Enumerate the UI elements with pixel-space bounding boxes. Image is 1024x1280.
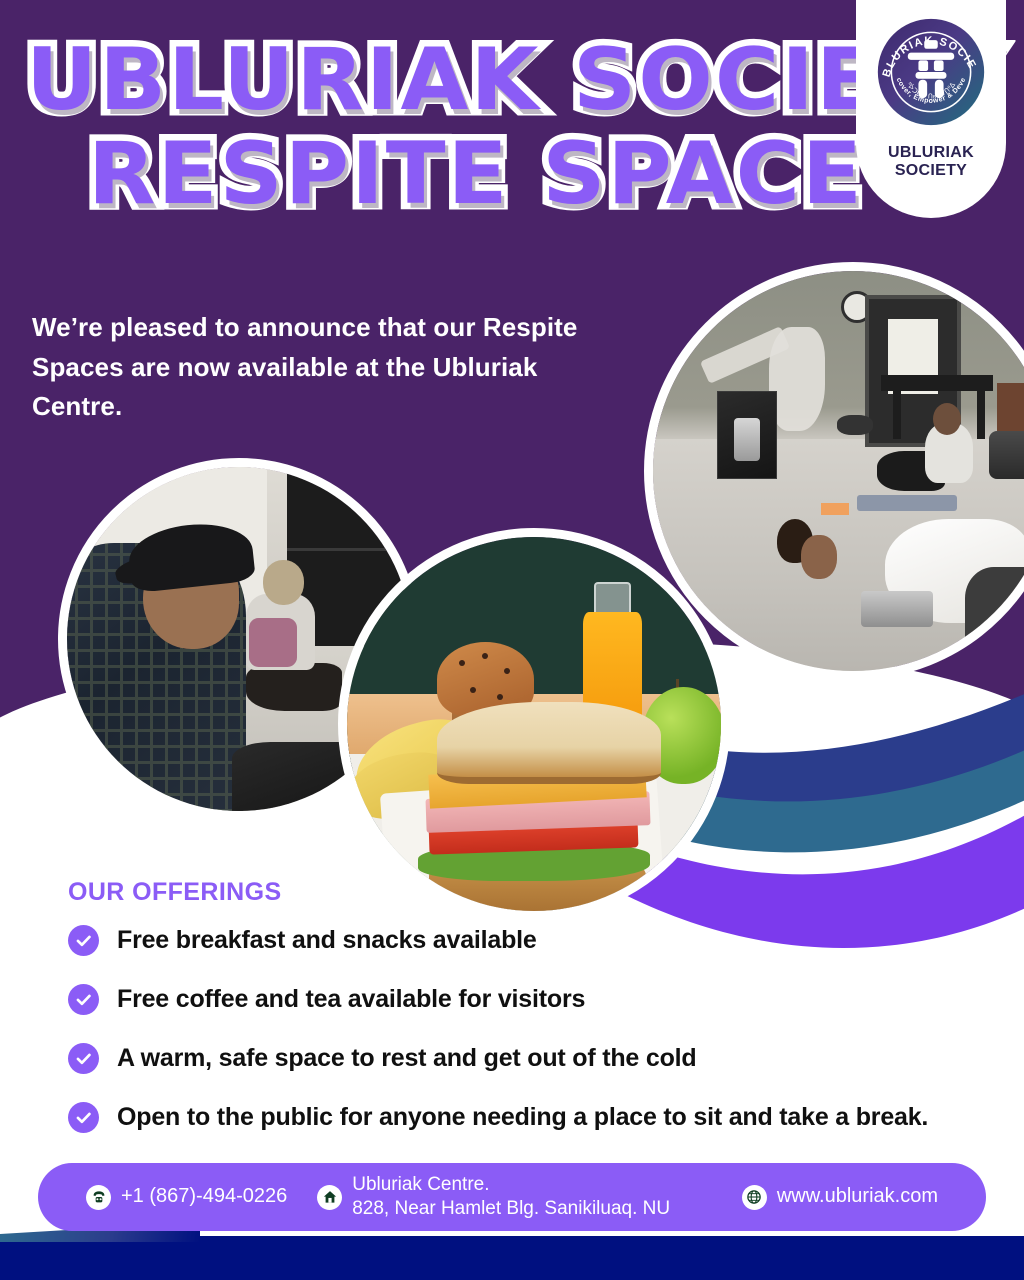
address-text: Ubluriak Centre. 828, Near Hamlet Blg. S…	[352, 1173, 670, 1222]
contact-bar: +1 (867)-494-0226 Ubluriak Centre. 828, …	[38, 1163, 986, 1231]
logo-wordmark-line-1: UBLURIAK	[888, 144, 974, 161]
offering-label: A warm, safe space to rest and get out o…	[117, 1044, 696, 1073]
address-line-2: 828, Near Hamlet Blg. Sanikiluaq. NU	[352, 1198, 670, 1219]
inukshuk-icon: UBLURIAK SOCIETY ᐦᐆᑐᑎᐯ ᑎᏼᐆᐯᑎᐦᐃ Discover,…	[873, 14, 989, 130]
address-line-1: Ubluriak Centre.	[352, 1174, 489, 1195]
offering-label: Open to the public for anyone needing a …	[117, 1103, 928, 1132]
footer-navy-strip	[0, 1236, 1024, 1280]
globe-icon	[742, 1185, 767, 1210]
list-item: Free breakfast and snacks available	[68, 925, 1008, 956]
logo-wordmark: UBLURIAK SOCIETY	[888, 144, 974, 181]
list-item: Free coffee and tea available for visito…	[68, 984, 1008, 1015]
telephone-icon	[86, 1185, 111, 1210]
photo-breakfast	[338, 528, 730, 920]
offering-label: Free breakfast and snacks available	[117, 926, 537, 955]
contact-address[interactable]: Ubluriak Centre. 828, Near Hamlet Blg. S…	[317, 1173, 670, 1222]
home-icon	[317, 1185, 342, 1210]
offering-label: Free coffee and tea available for visito…	[117, 985, 585, 1014]
poster-root: UBLURIAK SOCIETY RESPITE SPACE We’re ple…	[0, 0, 1024, 1280]
contact-website[interactable]: www.ubluriak.com	[742, 1184, 938, 1210]
list-item: A warm, safe space to rest and get out o…	[68, 1043, 1008, 1074]
website-url: www.ubluriak.com	[777, 1184, 938, 1210]
poster-headline: UBLURIAK SOCIETY RESPITE SPACE	[26, 38, 986, 217]
phone-number: +1 (867)-494-0226	[121, 1184, 287, 1210]
offerings-list: Free breakfast and snacks available Free…	[68, 925, 1008, 1133]
list-item: Open to the public for anyone needing a …	[68, 1102, 1008, 1133]
contact-phone[interactable]: +1 (867)-494-0226	[86, 1184, 287, 1210]
logo-badge-container: UBLURIAK SOCIETY ᐦᐆᑐᑎᐯ ᑎᏼᐆᐯᑎᐦᐃ Discover,…	[856, 0, 1006, 218]
intro-paragraph: We’re pleased to announce that our Respi…	[32, 308, 632, 427]
offerings-title: OUR OFFERINGS	[68, 878, 282, 907]
check-circle-icon	[68, 1043, 99, 1074]
check-circle-icon	[68, 925, 99, 956]
check-circle-icon	[68, 1102, 99, 1133]
logo-wordmark-line-2: SOCIETY	[895, 162, 967, 179]
check-circle-icon	[68, 984, 99, 1015]
